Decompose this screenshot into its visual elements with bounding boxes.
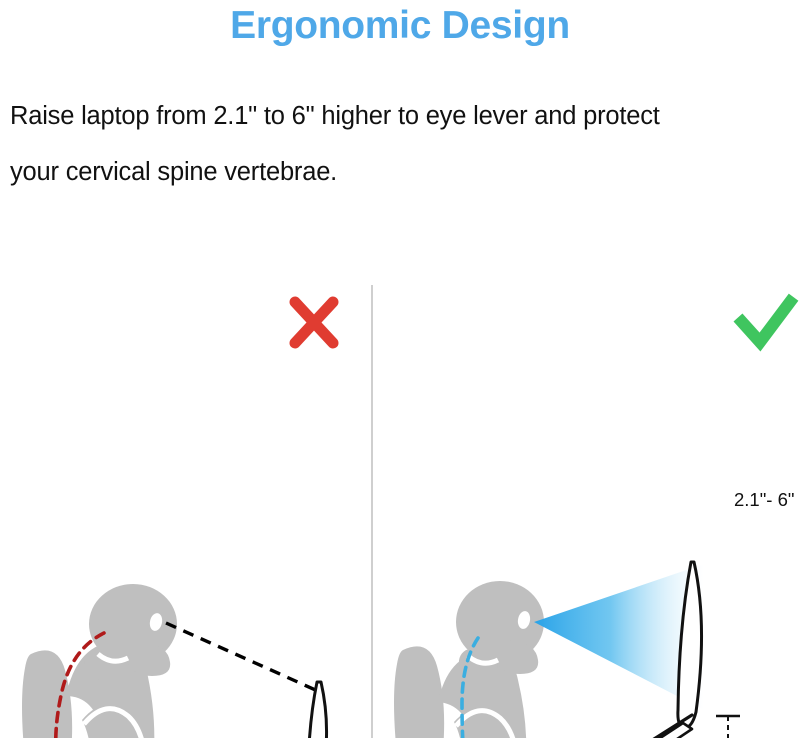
infographic-page: Ergonomic Design Raise laptop from 2.1" … <box>0 0 800 738</box>
check-mark-icon <box>742 302 790 342</box>
bad-posture-illustration <box>22 302 344 738</box>
subtitle-line-2: your cervical spine vertebrae. <box>10 144 794 200</box>
page-subtitle: Raise laptop from 2.1" to 6" higher to e… <box>10 88 794 200</box>
page-title: Ergonomic Design <box>0 2 800 50</box>
subtitle-line-1: Raise laptop from 2.1" to 6" higher to e… <box>10 102 660 130</box>
sight-line-bad <box>166 623 320 692</box>
laptop-flat <box>186 682 327 738</box>
height-measurement <box>716 716 740 738</box>
measurement-label: 2.1"- 6" <box>734 489 794 510</box>
comparison-illustrations: 2.1"- 6" <box>0 250 800 738</box>
good-posture-illustration: 2.1"- 6" <box>394 302 794 738</box>
cross-mark-icon <box>295 302 333 343</box>
